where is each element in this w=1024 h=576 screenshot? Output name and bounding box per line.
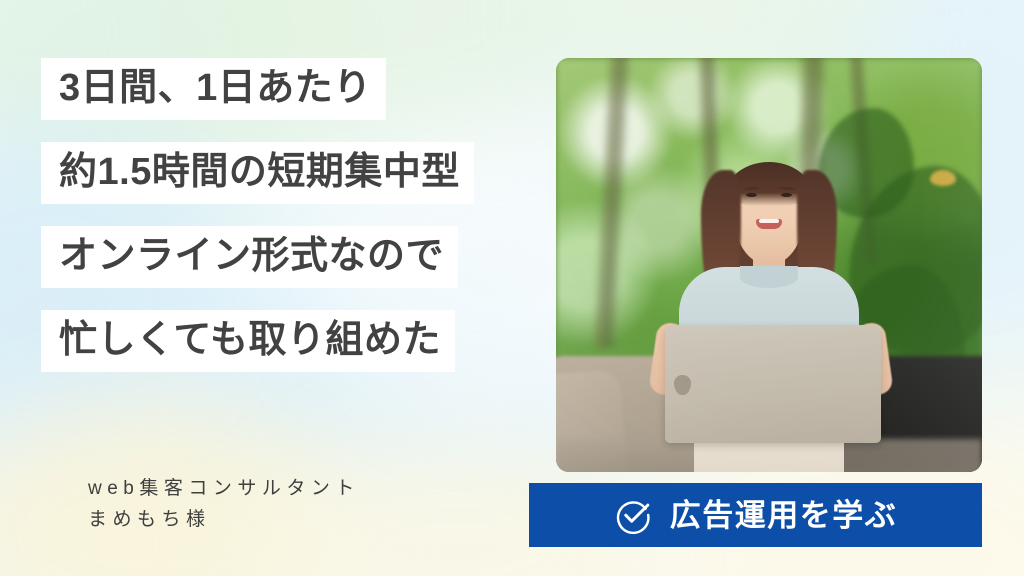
testimonial-photo — [556, 58, 982, 472]
headline-line-4: 忙しくても取り組めた — [41, 310, 455, 372]
headline-block: 3日間、1日あたり 約1.5時間の短期集中型 オンライン形式なので 忙しくても取… — [41, 58, 541, 394]
attribution-role: web集客コンサルタント — [88, 474, 360, 505]
testimonial-slide: 3日間、1日あたり 約1.5時間の短期集中型 オンライン形式なので 忙しくても取… — [0, 0, 1024, 576]
attribution-block: web集客コンサルタント まめもち様 — [88, 474, 360, 536]
attribution-name: まめもち様 — [88, 505, 360, 536]
headline-line-2: 約1.5時間の短期集中型 — [41, 142, 474, 204]
headline-line-3: オンライン形式なので — [41, 226, 458, 288]
check-circle-icon — [614, 496, 652, 534]
headline-line-1: 3日間、1日あたり — [41, 58, 386, 120]
learn-ad-operations-label: 広告運用を学ぶ — [670, 500, 898, 531]
photo-overlay — [556, 58, 982, 472]
learn-ad-operations-button[interactable]: 広告運用を学ぶ — [529, 483, 982, 547]
